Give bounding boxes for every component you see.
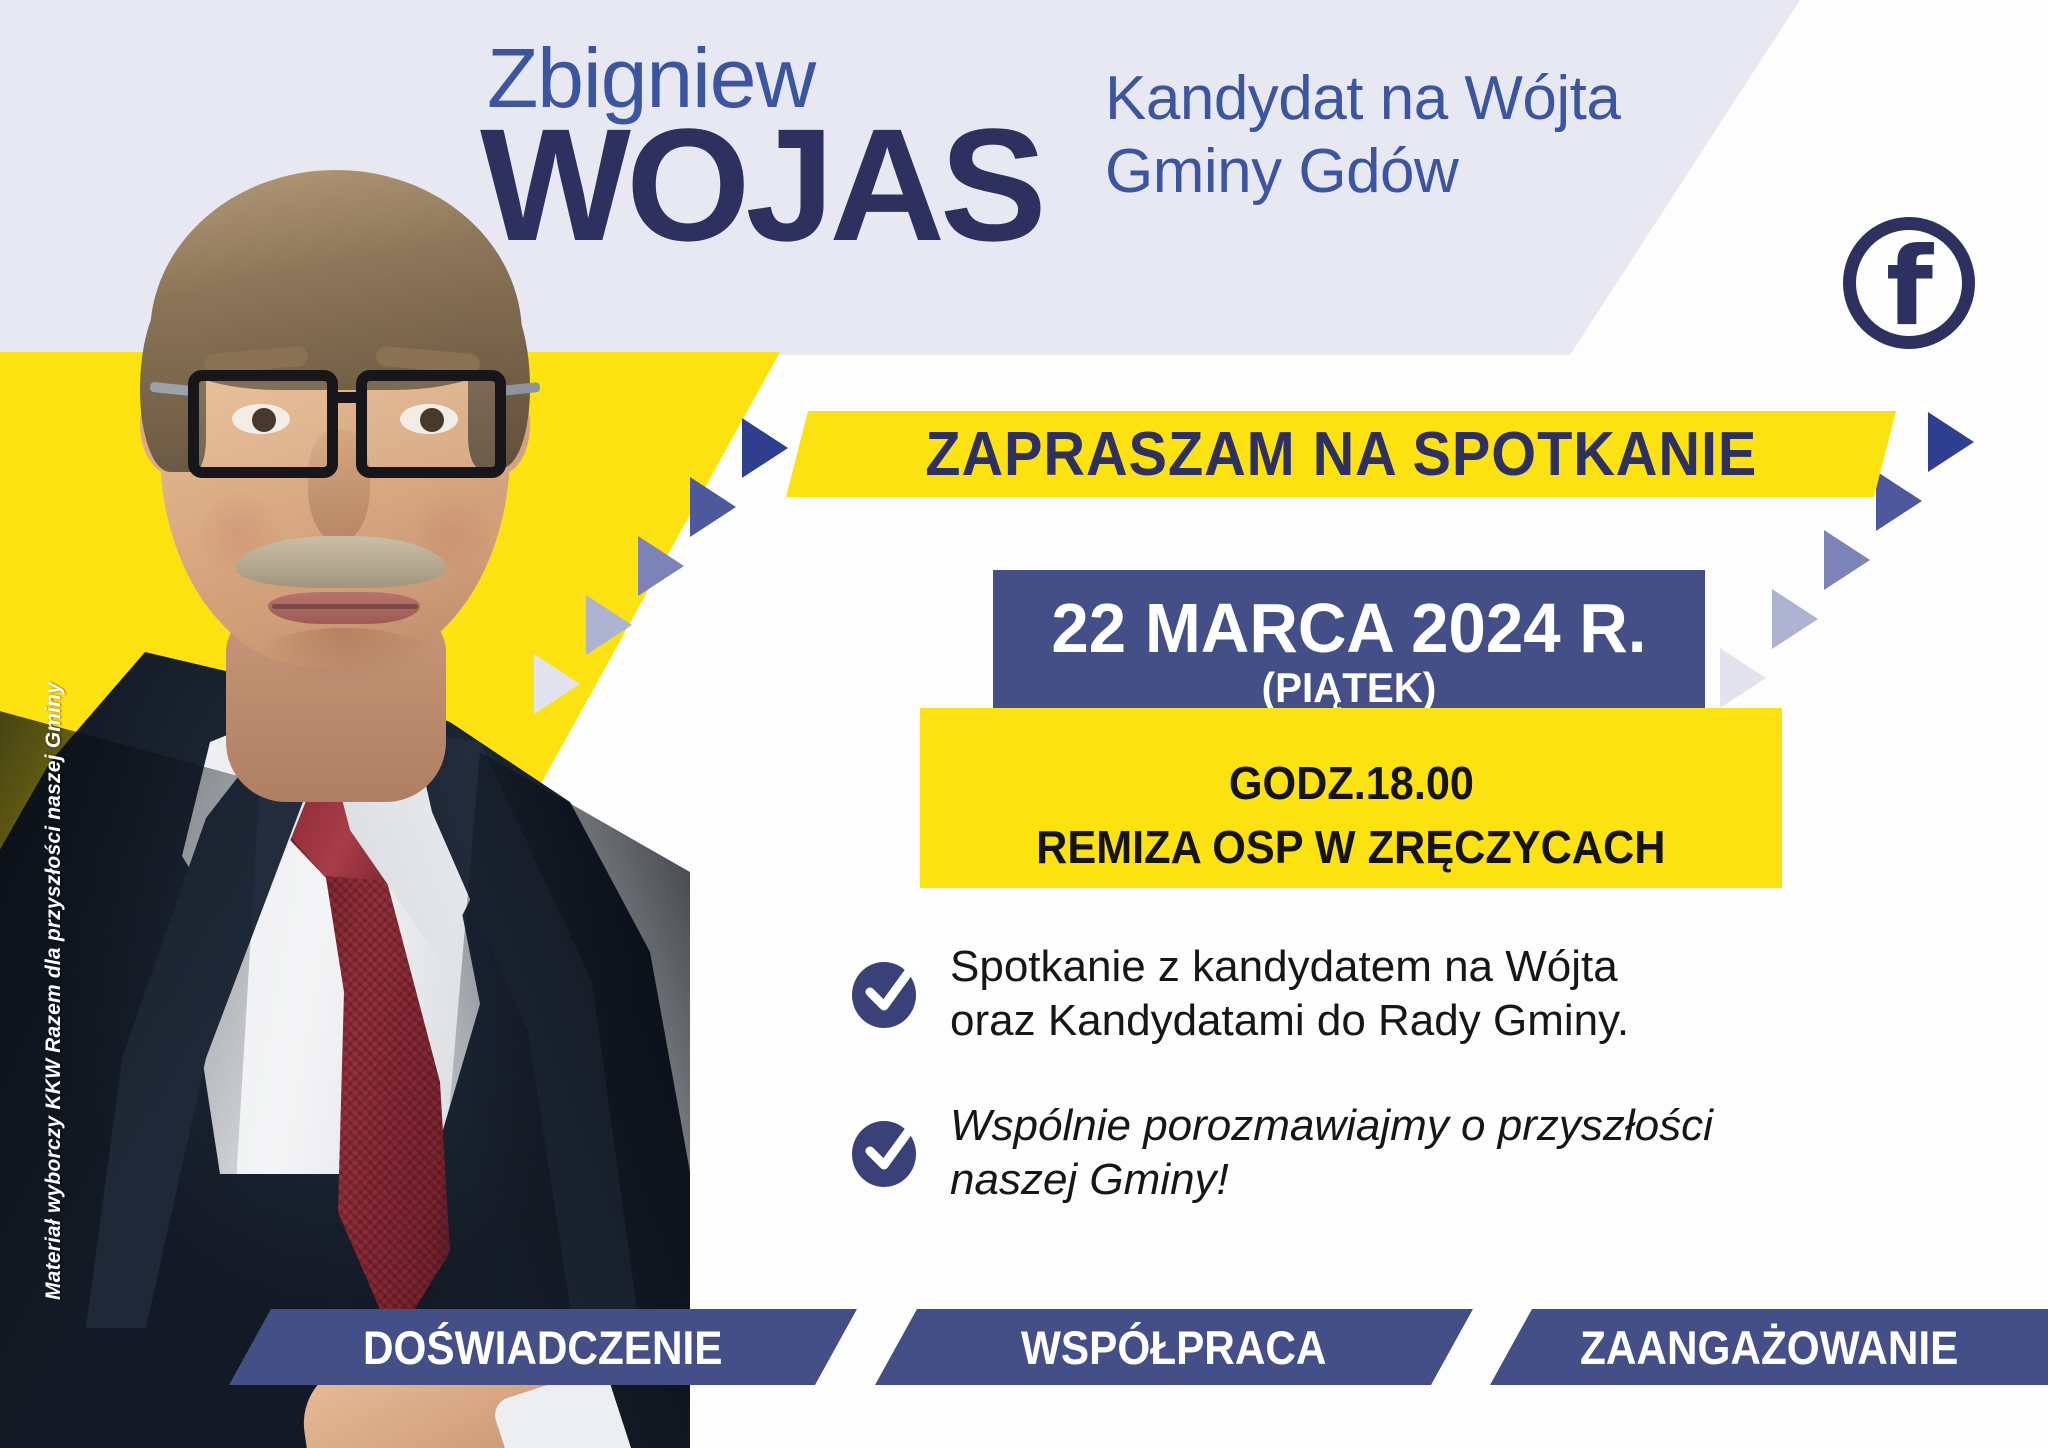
campaign-poster: Materiał wyborczy KKW Razem dla przyszło… bbox=[0, 0, 2048, 1448]
event-date-box: 22 MARCA 2024 R. (PIĄTEK) bbox=[993, 570, 1705, 730]
candidate-role-line1: Kandydat na Wójta bbox=[1105, 62, 1620, 135]
event-weekday: (PIĄTEK) bbox=[1262, 664, 1437, 712]
event-date: 22 MARCA 2024 R. bbox=[1051, 588, 1646, 668]
decor-triangle-left-3 bbox=[638, 536, 684, 596]
facebook-icon-glyph[interactable]: f bbox=[1886, 245, 1933, 331]
decor-triangle-left-4 bbox=[586, 595, 632, 655]
bullet-list: Spotkanie z kandydatem na Wójta oraz Kan… bbox=[850, 940, 1910, 1259]
bullet-2-line-1: Wspólnie porozmawiajmy o przyszłości bbox=[950, 1099, 1713, 1153]
candidate-role-line2: Gminy Gdów bbox=[1105, 135, 1620, 208]
values-banner-commitment: ZAANGAŻOWANIE bbox=[1490, 1309, 2048, 1385]
values-banner-experience: DOŚWIADCZENIE bbox=[229, 1309, 857, 1385]
decor-triangle-left-5 bbox=[534, 654, 580, 714]
values-banner-cooperation: WSPÓŁPRACA bbox=[875, 1309, 1473, 1385]
values-banner-row: DOŚWIADCZENIE WSPÓŁPRACA ZAANGAŻOWANIE bbox=[0, 1309, 2048, 1385]
event-venue-box: GODZ.18.00 REMIZA OSP W ZRĘCZYCACH bbox=[920, 708, 1782, 888]
bullet-2-line-2: naszej Gminy! bbox=[950, 1153, 1713, 1207]
portrait-moustache bbox=[236, 536, 446, 588]
decor-triangle-left-2 bbox=[690, 477, 736, 537]
decor-triangle-right-3 bbox=[1824, 530, 1870, 590]
bullet-text: Wspólnie porozmawiajmy o przyszłości nas… bbox=[950, 1099, 1713, 1206]
decor-triangle-left-1 bbox=[742, 418, 788, 478]
decor-triangle-right-4 bbox=[1772, 589, 1818, 649]
list-item: Wspólnie porozmawiajmy o przyszłości nas… bbox=[850, 1099, 1910, 1206]
portrait-chin-shadow bbox=[256, 628, 432, 686]
glasses-lens-right bbox=[356, 370, 506, 478]
candidate-last-name: WOJAS bbox=[480, 105, 1042, 265]
decor-triangle-right-5 bbox=[1720, 648, 1766, 708]
bullet-1-line-1: Spotkanie z kandydatem na Wójta bbox=[950, 940, 1629, 994]
values-banner-experience-label: DOŚWIADCZENIE bbox=[363, 1320, 723, 1375]
check-mark-icon bbox=[864, 1119, 920, 1181]
candidate-portrait bbox=[0, 92, 690, 1448]
values-banner-commitment-label: ZAANGAŻOWANIE bbox=[1580, 1320, 1958, 1375]
decor-triangle-right-2 bbox=[1876, 471, 1922, 531]
glasses-bridge bbox=[335, 392, 361, 403]
event-time: GODZ.18.00 bbox=[1228, 756, 1473, 810]
check-circle-icon bbox=[850, 1113, 924, 1193]
decor-triangle-right-1 bbox=[1928, 412, 1974, 472]
glasses-lens-left bbox=[188, 370, 338, 478]
check-mark-icon bbox=[864, 960, 920, 1022]
candidate-role: Kandydat na Wójta Gminy Gdów bbox=[1105, 62, 1620, 208]
event-place: REMIZA OSP W ZRĘCZYCACH bbox=[1036, 820, 1665, 874]
portrait-mouth-line bbox=[272, 604, 418, 609]
bullet-1-line-2: oraz Kandydatami do Rady Gminy. bbox=[950, 994, 1629, 1048]
values-banner-cooperation-label: WSPÓŁPRACA bbox=[1021, 1320, 1327, 1375]
invite-banner: ZAPRASZAM NA SPOTKANIE bbox=[786, 411, 1896, 497]
invite-banner-text: ZAPRASZAM NA SPOTKANIE bbox=[925, 419, 1757, 490]
check-circle-icon bbox=[850, 954, 924, 1034]
bullet-text: Spotkanie z kandydatem na Wójta oraz Kan… bbox=[950, 940, 1629, 1047]
list-item: Spotkanie z kandydatem na Wójta oraz Kan… bbox=[850, 940, 1910, 1047]
legal-disclaimer: Materiał wyborczy KKW Razem dla przyszło… bbox=[42, 570, 66, 1300]
